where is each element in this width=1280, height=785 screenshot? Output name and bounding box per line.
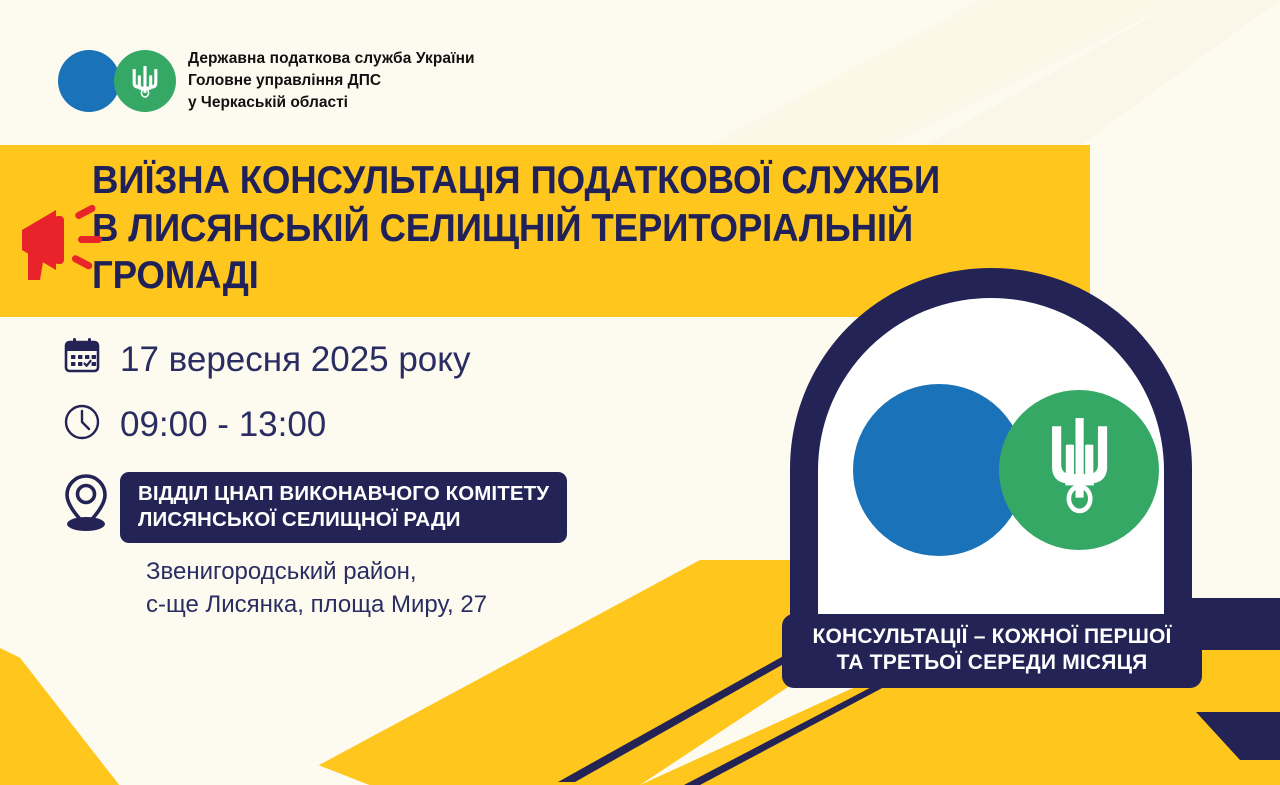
header-dept-line1: Головне управління ДПС [188, 70, 475, 92]
event-time: 09:00 - 13:00 [120, 402, 326, 448]
event-details: 17 вересня 2025 року 09:00 - 13:00 ВІД [62, 336, 567, 621]
address-block: Звенигородський район, с-ще Лисянка, пло… [146, 556, 567, 621]
consultation-line-2: ТА ТРЕТЬОЇ СЕРЕДИ МІСЯЦЯ [796, 650, 1188, 676]
consultation-schedule-badge: КОНСУЛЬТАЦІЇ – КОЖНОЇ ПЕРШОЇ ТА ТРЕТЬОЇ … [782, 614, 1202, 688]
date-row: 17 вересня 2025 року [62, 336, 567, 384]
calendar-icon [62, 336, 120, 376]
clock-icon [62, 402, 120, 442]
header-logo-block: Державна податкова служба України Головн… [58, 48, 475, 114]
place-badge: ВІДДІЛ ЦНАП ВИКОНАВЧОГО КОМІТЕТУ ЛИСЯНСЬ… [120, 472, 567, 543]
place-row: ВІДДІЛ ЦНАП ВИКОНАВЧОГО КОМІТЕТУ ЛИСЯНСЬ… [62, 472, 567, 543]
consultation-line-1: КОНСУЛЬТАЦІЇ – КОЖНОЇ ПЕРШОЇ [796, 624, 1188, 650]
header-text-block: Державна податкова служба України Головн… [188, 48, 475, 114]
place-line-2: ЛИСЯНСЬКОЇ СЕЛИЩНОЇ РАДИ [138, 507, 549, 533]
location-pin-icon [62, 472, 120, 532]
blue-circle-icon [58, 50, 120, 112]
event-date: 17 вересня 2025 року [120, 336, 470, 384]
logo-marks [58, 50, 176, 112]
megaphone-icon [8, 192, 106, 292]
header-dept-line2: у Черкаській області [188, 92, 475, 114]
header-org-name: Державна податкова служба України [188, 48, 475, 70]
place-line-1: ВІДДІЛ ЦНАП ВИКОНАВЧОГО КОМІТЕТУ [138, 481, 549, 507]
headline-line-1: ВИЇЗНА КОНСУЛЬТАЦІЯ ПОДАТКОВОЇ СЛУЖБИ [92, 157, 1032, 205]
trident-icon [129, 64, 161, 98]
address-line-2: с-ще Лисянка, площа Миру, 27 [146, 589, 567, 622]
headline-line-2: В ЛИСЯНСЬКІЙ СЕЛИЩНІЙ ТЕРИТОРІАЛЬНІЙ [92, 205, 1032, 253]
time-row: 09:00 - 13:00 [62, 402, 567, 448]
address-line-1: Звенигородський район, [146, 556, 567, 589]
poster-root: Державна податкова служба України Головн… [0, 0, 1280, 785]
